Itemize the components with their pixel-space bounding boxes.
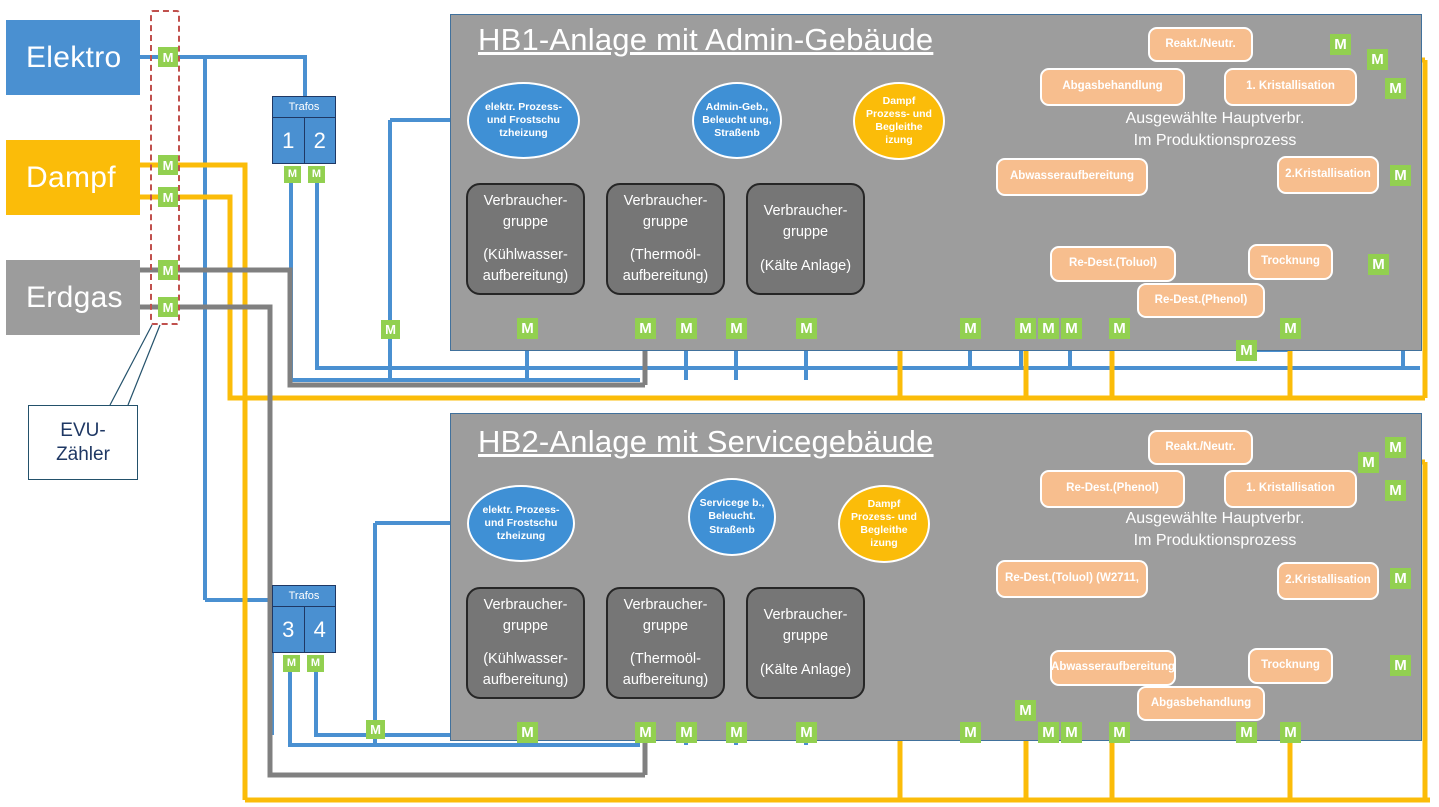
hb1-cycle-label-l2: Im Produktionsprozess bbox=[1105, 130, 1325, 152]
hb1-meter-v2[interactable]: M bbox=[676, 318, 697, 339]
hb2-meter-right-1[interactable]: M bbox=[1385, 437, 1406, 458]
hb1-consumer-group-thermooel[interactable]: Verbraucher- gruppe (Thermoöl- aufbereit… bbox=[606, 183, 725, 295]
hb2-meter-right-3[interactable]: M bbox=[1385, 480, 1406, 501]
hb2-ellipse-3-label: Dampf Prozess- und Begleithe izung bbox=[846, 498, 922, 551]
hb1-v2-l4: aufbereitung) bbox=[623, 266, 708, 287]
hb1-v3-l3: (Kälte Anlage) bbox=[760, 256, 851, 277]
hb1-meter-right-5[interactable]: M bbox=[1368, 254, 1389, 275]
hb1-meter-proc-6[interactable]: M bbox=[1236, 340, 1257, 361]
hb2-meter-proc-5[interactable]: M bbox=[1109, 722, 1130, 743]
hb1-meter-proc-7[interactable]: M bbox=[1280, 318, 1301, 339]
trafo-cell-4[interactable]: 4 bbox=[304, 607, 336, 653]
hb2-v3-l3: (Kälte Anlage) bbox=[760, 660, 851, 681]
hb1-consumer-group-kaelte[interactable]: Verbraucher- gruppe (Kälte Anlage) bbox=[746, 183, 865, 295]
hb1-process-kristallisation-1[interactable]: 1. Kristallisation bbox=[1224, 68, 1357, 106]
panel-hb1-title: HB1-Anlage mit Admin-Gebäude bbox=[478, 22, 933, 58]
hb2-ellipse-2-label: Servicege b., Beleucht. Straßenb bbox=[696, 497, 768, 536]
diagram-canvas: Elektro Dampf Erdgas M M M M M EVU- Zähl… bbox=[0, 0, 1439, 807]
hb2-meter-proc-6[interactable]: M bbox=[1236, 722, 1257, 743]
trafo-block-top[interactable]: Trafos 1 2 bbox=[272, 96, 336, 164]
hb1-v1-l4: aufbereitung) bbox=[483, 266, 568, 287]
hb1-meter-proc-1[interactable]: M bbox=[960, 318, 981, 339]
hb1-process-kristallisation-2[interactable]: 2.Kristallisation bbox=[1277, 156, 1379, 194]
trafo-block-bottom[interactable]: Trafos 3 4 bbox=[272, 585, 336, 653]
trafo-cell-1[interactable]: 1 bbox=[273, 118, 304, 164]
trafo-top-header: Trafos bbox=[273, 97, 335, 118]
evu-callout: EVU- Zähler bbox=[28, 405, 138, 480]
hb1-v1-l3: (Kühlwasser- bbox=[483, 245, 568, 266]
panel-hb2-title: HB2-Anlage mit Servicegebäude bbox=[478, 424, 934, 460]
hb2-v1-l4: aufbereitung) bbox=[483, 670, 568, 691]
hb1-ellipse-3-label: Dampf Prozess- und Begleithe izung bbox=[861, 95, 937, 148]
hb1-meter-right-4[interactable]: M bbox=[1390, 165, 1411, 186]
hb1-meter-right-1[interactable]: M bbox=[1330, 34, 1351, 55]
hb2-cycle-label-l1: Ausgewählte Hauptverbr. bbox=[1105, 508, 1325, 530]
hb1-v3-l2: gruppe bbox=[783, 222, 828, 243]
riser-meter-hb2-elektro[interactable]: M bbox=[366, 720, 385, 739]
hb1-consumer-group-kuehlwasser[interactable]: Verbraucher- gruppe (Kühlwasser- aufbere… bbox=[466, 183, 585, 295]
hb2-process-re-dest-toluol[interactable]: Re-Dest.(Toluol) (W2711, bbox=[996, 560, 1148, 598]
hb1-ellipse-1-label: elektr. Prozess- und Frostschu tzheizung bbox=[475, 101, 572, 140]
hb2-ellipse-dampf-prozess[interactable]: Dampf Prozess- und Begleithe izung bbox=[838, 485, 930, 563]
hb1-process-abwasseraufbereitung[interactable]: Abwasseraufbereitung bbox=[996, 158, 1148, 196]
source-box-erdgas[interactable]: Erdgas bbox=[6, 260, 140, 335]
hb1-v2-l2: gruppe bbox=[643, 212, 688, 233]
hb1-ellipse-elektr-prozess[interactable]: elektr. Prozess- und Frostschu tzheizung bbox=[467, 82, 580, 159]
evu-meter-elektro[interactable]: M bbox=[158, 47, 178, 67]
trafo-3-meter[interactable]: M bbox=[283, 655, 300, 672]
source-box-elektro[interactable]: Elektro bbox=[6, 20, 140, 95]
trafo-2-meter[interactable]: M bbox=[308, 166, 325, 183]
hb2-process-abwasseraufbereitung[interactable]: Abwasseraufbereitung bbox=[1050, 650, 1176, 686]
hb1-v2-l3: (Thermoöl- bbox=[630, 245, 701, 266]
hb1-meter-proc-2[interactable]: M bbox=[1015, 318, 1036, 339]
hb2-meter-service[interactable]: M bbox=[726, 722, 747, 743]
hb1-ellipse-dampf-prozess[interactable]: Dampf Prozess- und Begleithe izung bbox=[853, 82, 945, 160]
hb1-v2-l1: Verbraucher- bbox=[624, 191, 708, 212]
source-label-erdgas: Erdgas bbox=[26, 281, 123, 315]
evu-meter-dampf-1[interactable]: M bbox=[158, 155, 178, 175]
hb1-cycle-label-l1: Ausgewählte Hauptverbr. bbox=[1105, 108, 1325, 130]
hb2-consumer-group-thermooel[interactable]: Verbraucher- gruppe (Thermoöl- aufbereit… bbox=[606, 587, 725, 699]
hb1-meter-right-3[interactable]: M bbox=[1385, 78, 1406, 99]
hb2-meter-v2-gas[interactable]: M bbox=[635, 722, 656, 743]
hb1-v1-l1: Verbraucher- bbox=[484, 191, 568, 212]
hb2-v3-l1: Verbraucher- bbox=[764, 605, 848, 626]
hb2-v1-l1: Verbraucher- bbox=[484, 595, 568, 616]
hb1-meter-proc-3[interactable]: M bbox=[1038, 318, 1059, 339]
hb1-process-reakt-neutr[interactable]: Reakt./Neutr. bbox=[1148, 27, 1253, 62]
hb2-meter-proc-3[interactable]: M bbox=[1038, 722, 1059, 743]
hb2-meter-v3[interactable]: M bbox=[796, 722, 817, 743]
hb2-v2-l4: aufbereitung) bbox=[623, 670, 708, 691]
hb2-v1-l3: (Kühlwasser- bbox=[483, 649, 568, 670]
evu-meter-dampf-2[interactable]: M bbox=[158, 187, 178, 207]
source-label-elektro: Elektro bbox=[26, 41, 121, 75]
hb2-v2-l3: (Thermoöl- bbox=[630, 649, 701, 670]
hb2-consumer-group-kaelte[interactable]: Verbraucher- gruppe (Kälte Anlage) bbox=[746, 587, 865, 699]
trafo-1-meter[interactable]: M bbox=[284, 166, 301, 183]
hb2-ellipse-1-label: elektr. Prozess- und Frostschu tzheizung bbox=[475, 504, 567, 543]
evu-callout-line1: EVU- bbox=[60, 419, 105, 442]
hb1-meter-v3[interactable]: M bbox=[796, 318, 817, 339]
hb2-cycle-label-l2: Im Produktionsprozess bbox=[1105, 530, 1325, 552]
riser-meter-hb1-elektro[interactable]: M bbox=[381, 320, 400, 339]
hb2-v2-l1: Verbraucher- bbox=[624, 595, 708, 616]
hb1-meter-proc-5[interactable]: M bbox=[1109, 318, 1130, 339]
hb1-meter-proc-4[interactable]: M bbox=[1061, 318, 1082, 339]
hb2-meter-proc-2[interactable]: M bbox=[1015, 700, 1036, 721]
hb2-meter-right-5[interactable]: M bbox=[1390, 655, 1411, 676]
hb2-process-kristallisation-1[interactable]: 1. Kristallisation bbox=[1224, 470, 1357, 508]
hb1-meter-v1[interactable]: M bbox=[517, 318, 538, 339]
hb2-process-kristallisation-2[interactable]: 2.Kristallisation bbox=[1277, 562, 1379, 600]
trafo-cell-3[interactable]: 3 bbox=[273, 607, 304, 653]
hb1-ellipse-2-label: Admin-Geb., Beleucht ung, Straßenb bbox=[700, 101, 774, 140]
hb2-meter-right-2[interactable]: M bbox=[1358, 452, 1379, 473]
hb1-meter-right-2[interactable]: M bbox=[1367, 49, 1388, 70]
trafo-cell-2[interactable]: 2 bbox=[304, 118, 336, 164]
evu-meter-erdgas-1[interactable]: M bbox=[158, 260, 178, 280]
hb2-consumer-group-kuehlwasser[interactable]: Verbraucher- gruppe (Kühlwasser- aufbere… bbox=[466, 587, 585, 699]
source-box-dampf[interactable]: Dampf bbox=[6, 140, 140, 215]
hb1-ellipse-admin-gebaeude[interactable]: Admin-Geb., Beleucht ung, Straßenb bbox=[692, 82, 782, 159]
trafo-4-meter[interactable]: M bbox=[307, 655, 324, 672]
hb2-process-abgasbehandlung[interactable]: Abgasbehandlung bbox=[1137, 686, 1265, 721]
hb2-v3-l2: gruppe bbox=[783, 626, 828, 647]
hb2-meter-proc-7[interactable]: M bbox=[1280, 722, 1301, 743]
hb2-process-trocknung[interactable]: Trocknung bbox=[1248, 648, 1333, 684]
hb2-v1-l2: gruppe bbox=[503, 616, 548, 637]
hb1-process-re-dest-toluol[interactable]: Re-Dest.(Toluol) bbox=[1050, 246, 1176, 282]
evu-callout-line2: Zähler bbox=[56, 443, 110, 466]
hb2-process-re-dest-phenol[interactable]: Re-Dest.(Phenol) bbox=[1040, 470, 1185, 508]
hb1-process-abgasbehandlung[interactable]: Abgasbehandlung bbox=[1040, 68, 1185, 106]
hb2-v2-l2: gruppe bbox=[643, 616, 688, 637]
hb2-ellipse-servicegebaeude[interactable]: Servicege b., Beleucht. Straßenb bbox=[688, 478, 776, 556]
hb2-meter-v1[interactable]: M bbox=[517, 722, 538, 743]
hb2-meter-v2[interactable]: M bbox=[676, 722, 697, 743]
hb1-v1-l2: gruppe bbox=[503, 212, 548, 233]
hb2-process-reakt-neutr[interactable]: Reakt./Neutr. bbox=[1148, 430, 1253, 465]
hb1-meter-v2-gas[interactable]: M bbox=[635, 318, 656, 339]
trafo-bottom-header: Trafos bbox=[273, 586, 335, 607]
hb2-cycle-label: Ausgewählte Hauptverbr. Im Produktionspr… bbox=[1105, 508, 1325, 551]
hb2-meter-proc-1[interactable]: M bbox=[960, 722, 981, 743]
hb2-ellipse-elektr-prozess[interactable]: elektr. Prozess- und Frostschu tzheizung bbox=[467, 485, 575, 562]
hb2-meter-right-4[interactable]: M bbox=[1390, 568, 1411, 589]
hb1-meter-admin[interactable]: M bbox=[726, 318, 747, 339]
evu-meter-erdgas-2[interactable]: M bbox=[158, 297, 178, 317]
hb1-process-trocknung[interactable]: Trocknung bbox=[1248, 244, 1333, 280]
source-label-dampf: Dampf bbox=[26, 161, 116, 195]
hb1-v3-l1: Verbraucher- bbox=[764, 201, 848, 222]
hb1-cycle-label: Ausgewählte Hauptverbr. Im Produktionspr… bbox=[1105, 108, 1325, 151]
hb2-meter-proc-4[interactable]: M bbox=[1061, 722, 1082, 743]
hb1-process-re-dest-phenol[interactable]: Re-Dest.(Phenol) bbox=[1137, 283, 1265, 318]
